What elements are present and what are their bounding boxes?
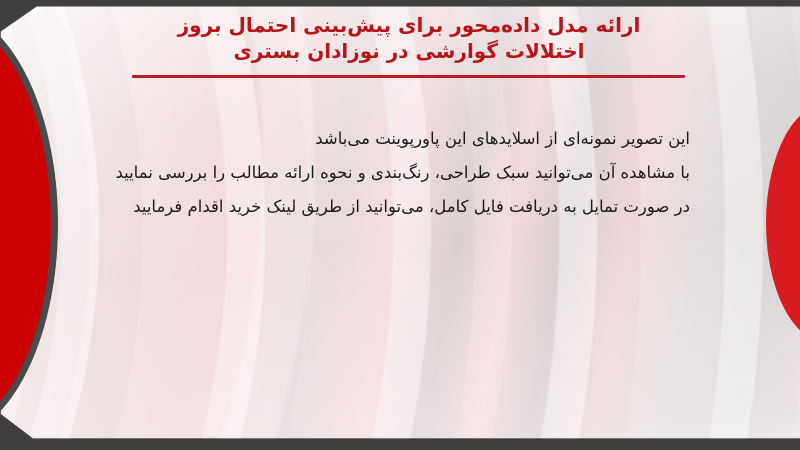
body-line-2: با مشاهده آن می‌توانید سبک طراحی، رنگ‌بن… [160, 156, 690, 190]
body-line-1: این تصویر نمونه‌ای از اسلایدهای این پاور… [160, 122, 690, 156]
title-line-1: ارائه مدل داده‌محور برای پیش‌بینی احتمال… [130, 12, 688, 38]
title-line-2: اختلالات گوارشی در نوزادان بستری [130, 38, 688, 64]
body-line-3: در صورت تمایل به دریافت فایل کامل، می‌تو… [160, 190, 690, 224]
background-arc-texture [0, 0, 800, 450]
background-arc-texture-secondary [0, 0, 800, 450]
slide-title: ارائه مدل داده‌محور برای پیش‌بینی احتمال… [130, 12, 688, 64]
slide-body-text: این تصویر نمونه‌ای از اسلایدهای این پاور… [160, 122, 690, 224]
title-underline [132, 75, 685, 78]
presentation-slide: ارائه مدل داده‌محور برای پیش‌بینی احتمال… [0, 0, 800, 450]
background-sheen-overlay [0, 0, 800, 450]
slide-background-panel [0, 0, 800, 450]
